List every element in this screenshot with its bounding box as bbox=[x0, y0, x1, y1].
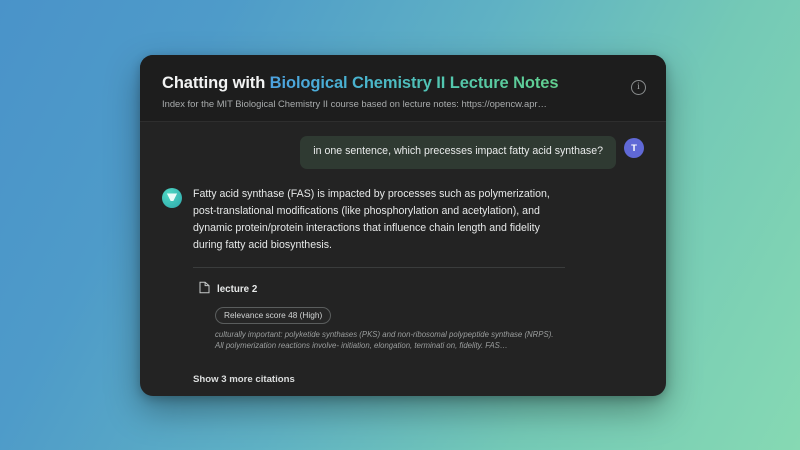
page-title-subject: Biological Chemistry II Lecture Notes bbox=[270, 74, 559, 92]
funnel-icon bbox=[167, 193, 177, 201]
citation-snippet: culturally important: polyketide synthas… bbox=[215, 329, 563, 352]
citation-header: lecture 2 bbox=[199, 281, 644, 299]
chat-card: Chatting with Biological Chemistry II Le… bbox=[140, 55, 666, 396]
user-message-bubble: in one sentence, which precesses impact … bbox=[300, 136, 616, 169]
user-avatar: T bbox=[624, 138, 644, 158]
page-title: Chatting with Biological Chemistry II Le… bbox=[162, 74, 644, 93]
page-title-prefix: Chatting with bbox=[162, 74, 265, 92]
citation-title: lecture 2 bbox=[217, 284, 257, 295]
assistant-message-text: Fatty acid synthase (FAS) is impacted by… bbox=[193, 186, 565, 255]
chat-transcript: in one sentence, which precesses impact … bbox=[140, 122, 666, 396]
user-message-row: in one sentence, which precesses impact … bbox=[162, 136, 644, 169]
assistant-message-row: Fatty acid synthase (FAS) is impacted by… bbox=[162, 186, 644, 385]
page-subtitle: Index for the MIT Biological Chemistry I… bbox=[162, 98, 592, 110]
assistant-avatar bbox=[162, 188, 182, 208]
divider bbox=[193, 267, 565, 268]
relevance-score-badge: Relevance score 48 (High) bbox=[215, 307, 331, 324]
document-icon bbox=[199, 281, 210, 299]
info-icon[interactable]: i bbox=[631, 80, 646, 95]
show-more-citations-button[interactable]: Show 3 more citations bbox=[193, 374, 644, 385]
citation-item[interactable]: lecture 2 Relevance score 48 (High) cult… bbox=[193, 281, 644, 352]
assistant-message-content: Fatty acid synthase (FAS) is impacted by… bbox=[193, 186, 644, 385]
card-header: Chatting with Biological Chemistry II Le… bbox=[140, 55, 666, 122]
